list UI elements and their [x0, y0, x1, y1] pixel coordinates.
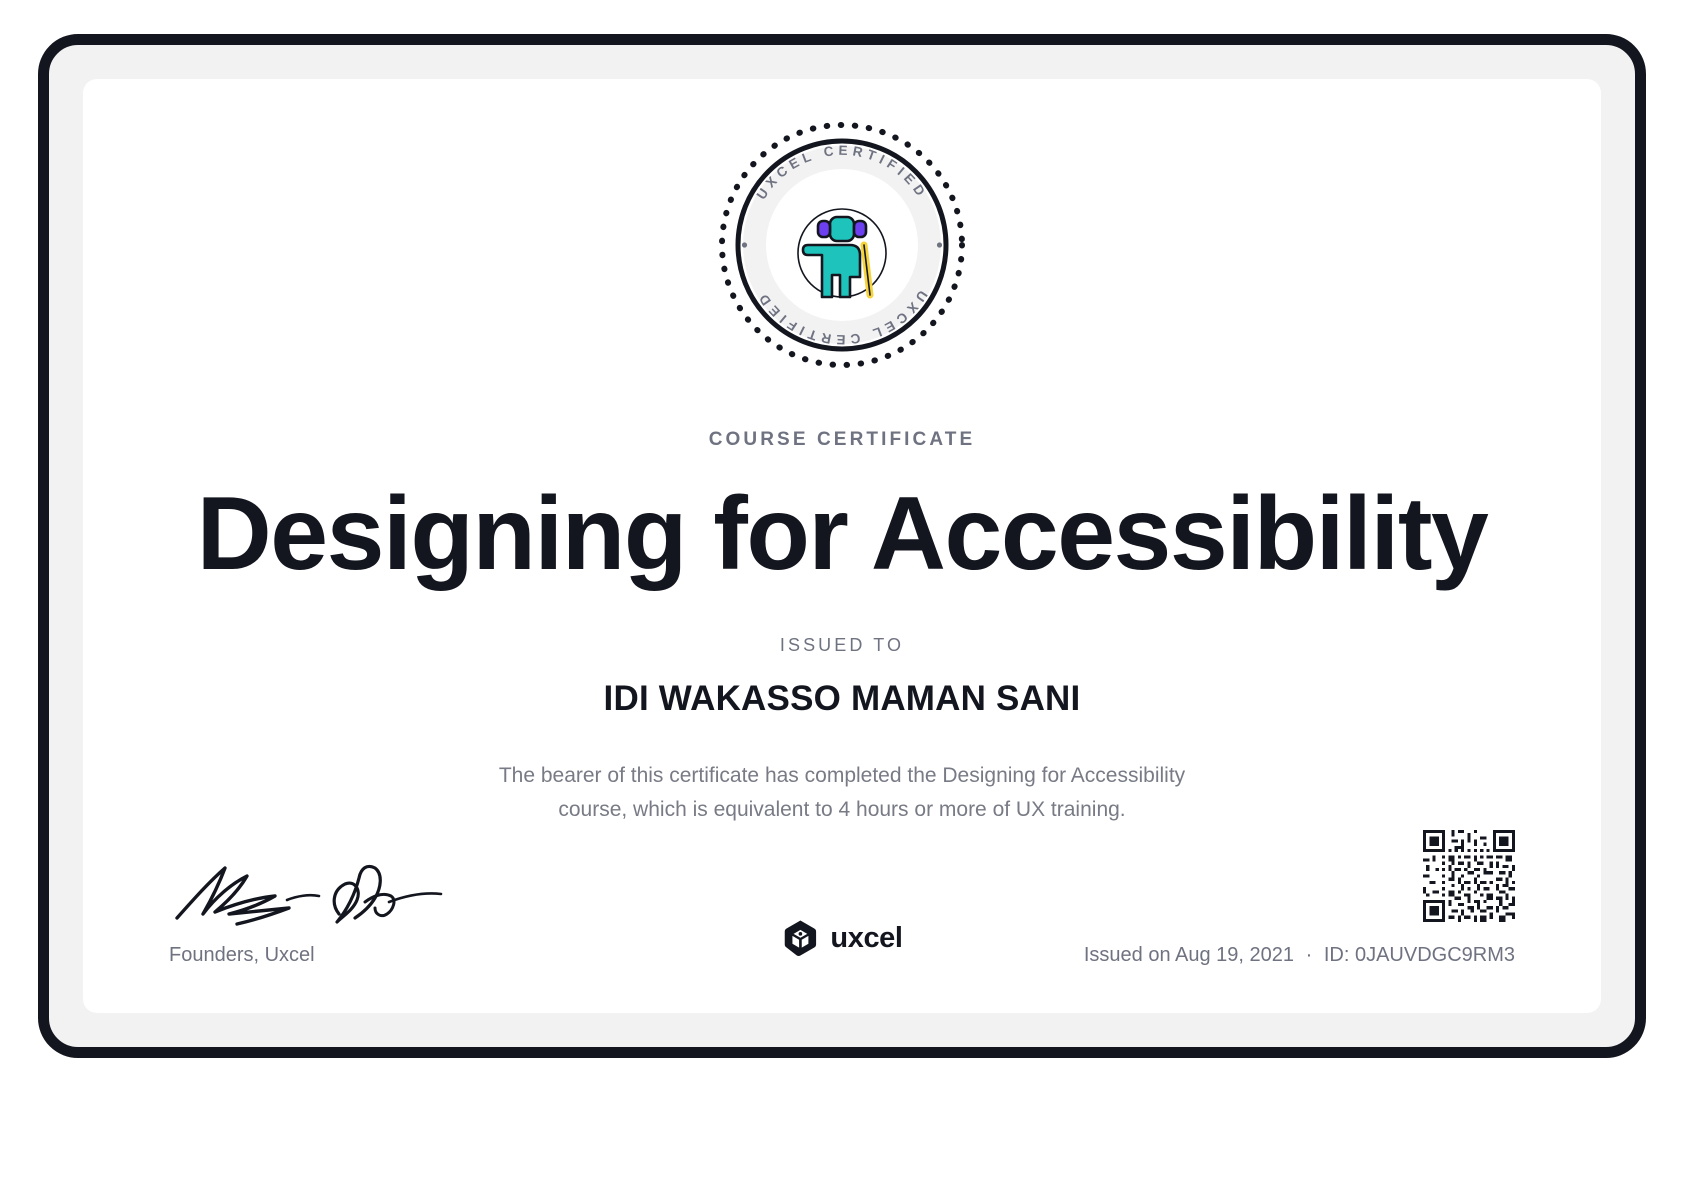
issue-block: Issued on Aug 19, 2021 · ID: 0JAUVDGC9RM… [1084, 830, 1515, 967]
certificate-body: UXCEL CERTIFIED UXCEL CERTIFIED [83, 79, 1601, 1013]
recipient-name: IDI WAKASSO MAMAN SANI [83, 679, 1601, 719]
course-title: Designing for Accessibility [83, 479, 1601, 589]
signature-block: Founders, Uxcel [169, 856, 509, 967]
founders-signature-icon [169, 856, 459, 934]
issue-meta: Issued on Aug 19, 2021 · ID: 0JAUVDGC9RM… [1084, 944, 1515, 967]
uxcel-brand-logo: uxcel [781, 919, 902, 957]
description-line-2: course, which is equivalent to 4 hours o… [558, 798, 1125, 821]
founders-label: Founders, Uxcel [169, 944, 509, 967]
certificate-id: ID: 0JAUVDGC9RM3 [1324, 944, 1515, 966]
issued-to-label: ISSUED TO [83, 635, 1601, 656]
seal-icon: UXCEL CERTIFIED UXCEL CERTIFIED [714, 117, 970, 373]
certificate-description: The bearer of this certificate has compl… [462, 759, 1222, 827]
uxcel-cube-icon [781, 919, 819, 957]
meta-separator: · [1300, 944, 1319, 966]
certificate-kicker: COURSE CERTIFICATE [83, 429, 1601, 451]
certificate-frame: UXCEL CERTIFIED UXCEL CERTIFIED [38, 34, 1646, 1058]
description-line-1: The bearer of this certificate has compl… [499, 764, 1185, 787]
issued-on-date: Issued on Aug 19, 2021 [1084, 944, 1294, 966]
uxcel-certified-seal: UXCEL CERTIFIED UXCEL CERTIFIED [714, 117, 970, 373]
qr-code-icon[interactable] [1423, 830, 1515, 922]
uxcel-wordmark: uxcel [830, 922, 902, 955]
